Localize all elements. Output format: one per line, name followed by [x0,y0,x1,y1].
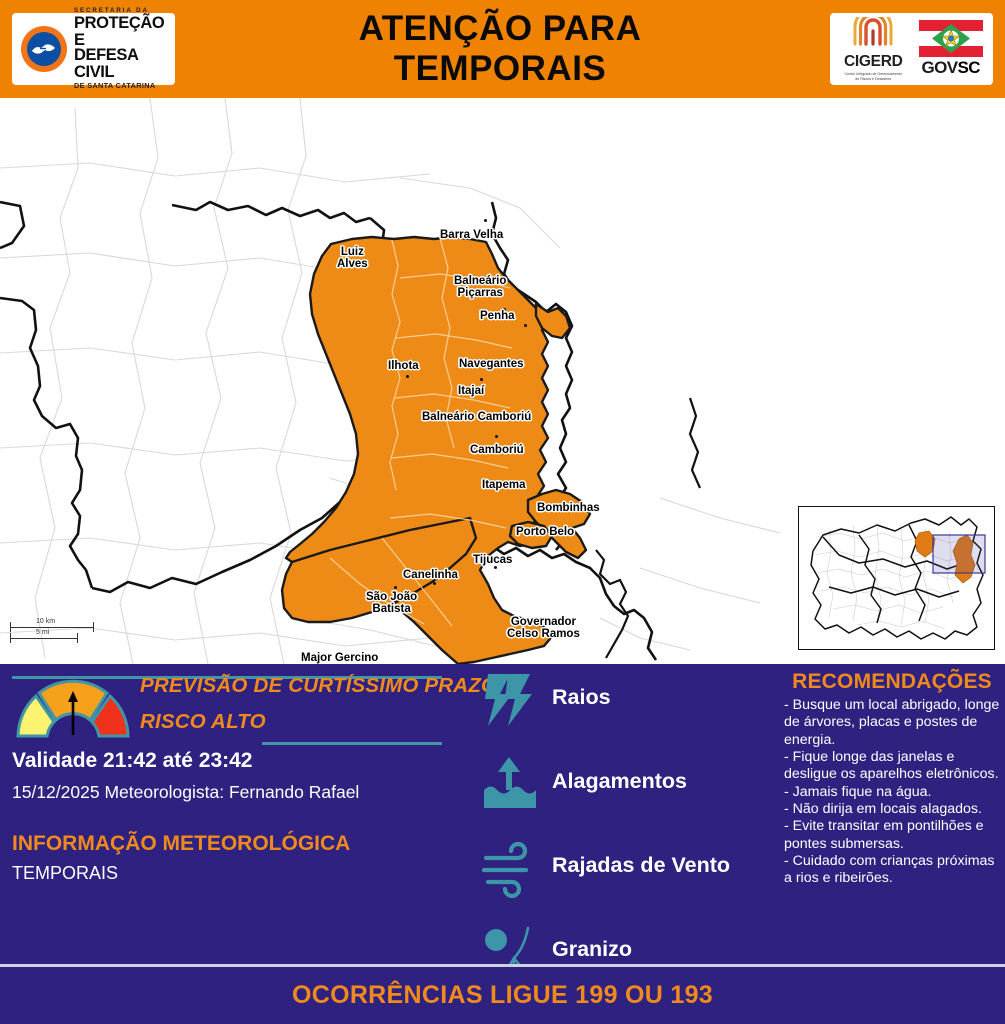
recommendation-item: - Jamais fique na água. [784,784,1000,801]
alert-area-polygon [282,237,590,664]
wind-icon [482,840,538,898]
city-label-porto-belo: Porto Belo [516,526,574,538]
info-body: TEMPORAIS [12,863,118,884]
city-dot-ilhota [406,375,409,378]
risk-level-text: RISCO ALTO [140,710,440,734]
city-label-balneario-camboriu: Balneário Camboriú [422,411,531,423]
poster-title: ATENÇÃO PARA TEMPORAIS [180,9,820,89]
recommendation-item: - Não dirija em locais alagados. [784,801,1000,818]
city-label-barra-velha: Barra Velha [440,229,503,241]
logo-protecao-text: PROTEÇÃO E [74,15,175,48]
city-dot-canelinha [433,582,436,585]
city-label-ilhota: Ilhota [388,360,419,372]
hazard-label-alagamentos: Alagamentos [552,769,687,794]
hazard-list: Raios Alagamentos [482,672,762,1008]
city-label-itapema: Itapema [482,479,525,491]
info-title: INFORMAÇÃO METEOROLÓGICA [12,832,350,856]
city-dot-tijucas [494,566,497,569]
city-label-luiz-alves: LuizAlves [337,246,368,270]
city-label-balneario-picarras: BalneárioPiçarras [454,275,506,299]
govsc-suffix: SC [958,58,980,77]
coastline [596,398,700,658]
hands-icon [31,41,57,57]
alert-map[interactable]: Barra Velha LuizAlves BalneárioPiçarras … [0,98,1005,664]
city-label-canelinha: Canelinha [403,569,458,581]
meteorologist-text: 15/12/2025 Meteorologista: Fernando Rafa… [12,782,359,803]
city-label-governador-celso-ramos: GovernadorCelso Ramos [507,616,580,640]
cigerd-sub-line1: Centro Integrado de Gerenciamento [836,72,910,76]
lightning-icon [482,672,538,730]
city-label-itajai: Itajaí [458,385,484,397]
city-dot-penha [524,324,527,327]
cigerd-name-text: CIGERD [836,53,910,71]
poster-title-line2: TEMPORAIS [180,49,820,89]
city-label-navegantes: Navegantes [459,358,524,370]
logo-defesa-civil-text: DEFESA CIVIL [74,47,175,80]
recommendation-item: - Cuidado com crianças próximas a rios e… [784,853,1000,888]
cigerd-sub-line2: de Riscos e Desastres [836,77,910,81]
govsc-prefix: GOV [922,58,958,77]
city-dot-camboriu [495,435,498,438]
city-dot-itajai [480,378,483,381]
hazard-label-raios: Raios [552,685,611,710]
alert-poster: SECRETARIA DA PROTEÇÃO E DEFESA CIVIL DE… [0,0,1005,1024]
recommendations-title: RECOMENDAÇÕES [784,670,1000,694]
city-label-sao-joao-batista: São JoãoBatista [366,591,417,615]
emergency-phone-text: OCORRÊNCIAS LIGUE 199 OU 193 [0,981,1005,1010]
cigerd-waves-icon [846,17,900,47]
hazard-label-rajadas-de-vento: Rajadas de Vento [552,853,730,878]
hazard-item-raios: Raios [482,672,762,737]
city-label-bombinhas: Bombinhas [537,502,600,514]
validity-text: Validade 21:42 até 23:42 [12,749,253,773]
state-locator-map[interactable] [798,506,995,650]
govsc-logo: GOVSC [915,20,987,78]
risk-underline-rule [262,742,442,745]
scale-mi-label: 5 mi [36,629,49,636]
city-label-camboriu: Camboriú [470,444,524,456]
scale-km-label: 10 km [36,618,55,625]
city-dot-barra-velha [484,219,487,222]
defesa-civil-emblem-icon [21,26,67,72]
poster-title-line1: ATENÇÃO PARA [180,9,820,49]
recommendation-item: - Busque um local abrigado, longe de árv… [784,697,1000,749]
defesa-civil-logo: SECRETARIA DA PROTEÇÃO E DEFESA CIVIL DE… [12,13,175,85]
flood-icon [482,756,538,814]
map-scale-bar: 10 km 5 mi [10,618,106,643]
hazard-item-alagamentos: Alagamentos [482,756,762,821]
recommendations-list: - Busque um local abrigado, longe de árv… [784,697,1000,887]
logo-santa-catarina-text: DE SANTA CATARINA [74,82,175,89]
city-dot-sao-joao-batista [394,586,397,589]
footer-bar: OCORRÊNCIAS LIGUE 199 OU 193 [0,964,1005,1024]
recommendation-item: - Fique longe das janelas e desligue os … [784,749,1000,784]
recommendation-item: - Evite transitar em pontilhões e pontes… [784,818,1000,853]
header-bar: SECRETARIA DA PROTEÇÃO E DEFESA CIVIL DE… [0,0,1005,98]
santa-catarina-flag-icon [919,20,983,57]
risk-gauge [14,678,132,740]
hazard-label-granizo: Granizo [552,937,632,962]
city-label-tijucas: Tijucas [473,554,512,566]
hazard-item-rajadas-de-vento: Rajadas de Vento [482,840,762,905]
city-label-penha: Penha [480,310,515,322]
recommendations-block: RECOMENDAÇÕES - Busque um local abrigado… [784,670,1000,887]
info-panel: PREVISÃO DE CURTÍSSIMO PRAZO RISCO ALTO … [0,664,1005,964]
forecast-title: PREVISÃO DE CURTÍSSIMO PRAZO [140,674,440,698]
forecast-heading-group: PREVISÃO DE CURTÍSSIMO PRAZO RISCO ALTO [140,674,440,734]
govsc-name-text: GOVSC [915,58,987,78]
city-label-major-gercino: Major Gercino [301,652,378,664]
partner-logos: CIGERD Centro Integrado de Gerenciamento… [830,13,993,85]
cigerd-logo: CIGERD Centro Integrado de Gerenciamento… [836,17,910,82]
